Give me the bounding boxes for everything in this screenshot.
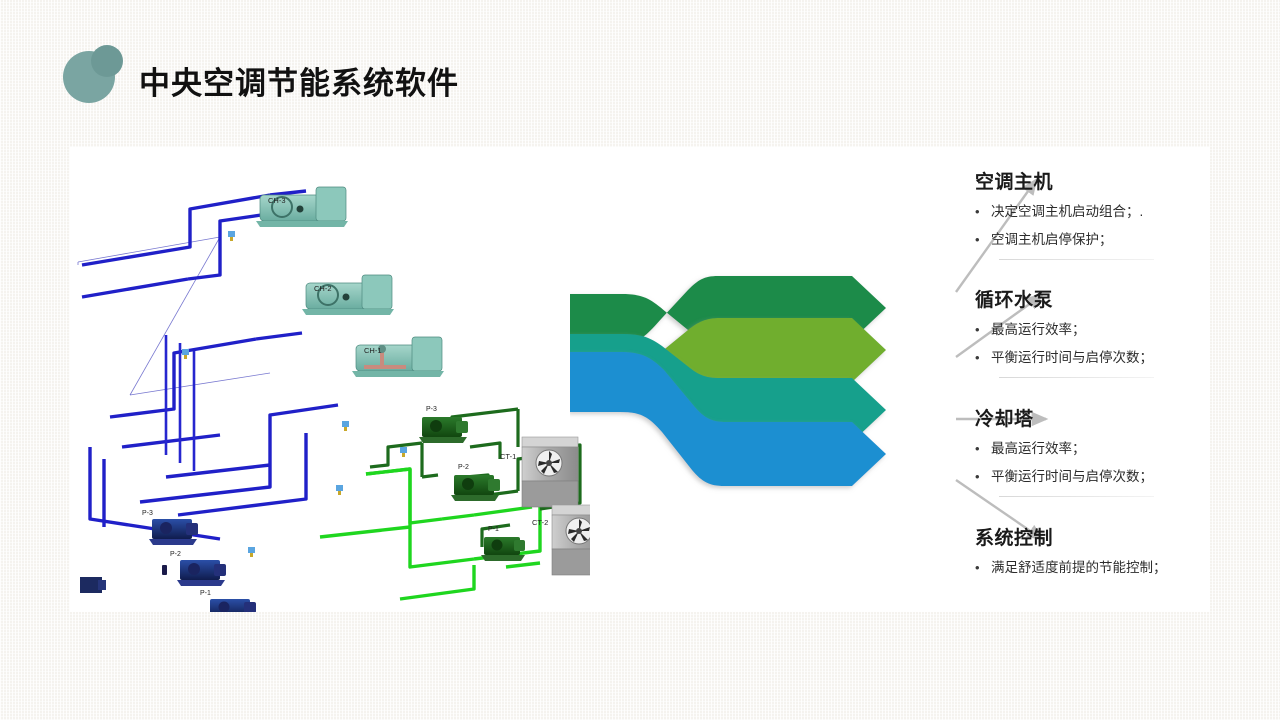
section-heading: 空调主机 [975,167,1215,194]
section-cooling-tower: 冷却塔 • 最高运行效率； • 平衡运行时间与启停次数； [975,404,1215,497]
bullet-dot-icon: • [975,440,991,457]
section-divider [999,377,1154,378]
svg-text:CT-1: CT-1 [500,452,516,461]
bullet-text: 最高运行效率； [991,440,1086,457]
section-circulating-pump: 循环水泵 • 最高运行效率； • 平衡运行时间与启停次数； [975,285,1215,378]
section-air-conditioning-host: 空调主机 • 决定空调主机启动组合；. • 空调主机启停保护； [975,167,1215,260]
svg-text:CH-1: CH-1 [364,346,382,355]
bullet-dot-icon: • [975,349,991,366]
list-item: • 空调主机启停保护； [975,231,1215,248]
page-title: 中央空调节能系统软件 [139,58,459,103]
list-item: • 决定空调主机启动组合；. [975,203,1215,220]
bullet-dot-icon: • [975,231,991,248]
bullet-text: 最高运行效率； [991,321,1086,338]
svg-text:P-2: P-2 [458,464,469,471]
list-item: • 最高运行效率； [975,321,1215,338]
svg-text:P-1: P-1 [200,590,211,597]
bullet-text: 平衡运行时间与启停次数； [991,349,1153,366]
bullet-dot-icon: • [975,203,991,220]
section-heading: 循环水泵 [975,285,1215,312]
section-system-control: 系统控制 • 满足舒适度前提的节能控制； [975,523,1215,587]
section-heading: 冷却塔 [975,404,1215,431]
logo-circle-small-icon [91,45,123,77]
svg-text:CH-2: CH-2 [314,284,332,293]
list-item: • 满足舒适度前提的节能控制； [975,559,1215,576]
hvac-isometric-diagram: P-3 P-2 P-1 [70,147,590,612]
bullet-dot-icon: • [975,559,991,576]
ribbon-band-group [570,242,900,522]
bullet-text: 满足舒适度前提的节能控制； [991,559,1167,576]
bullet-dot-icon: • [975,321,991,338]
section-divider [999,259,1154,260]
list-item: • 平衡运行时间与启停次数； [975,468,1215,485]
section-divider [999,496,1154,497]
bullet-text: 决定空调主机启动组合；. [991,203,1143,220]
svg-text:P-3: P-3 [142,510,153,517]
svg-text:P-2: P-2 [170,551,181,558]
sections-column: 空调主机 • 决定空调主机启动组合；. • 空调主机启停保护； 循环水泵 • 最… [975,0,1215,720]
svg-text:P-3: P-3 [426,406,437,413]
bullet-text: 平衡运行时间与启停次数； [991,468,1153,485]
svg-text:CH-3: CH-3 [268,196,286,205]
section-bullets: • 决定空调主机启动组合；. • 空调主机启停保护； [975,203,1215,248]
two-circles-logo [63,45,125,107]
section-heading: 系统控制 [975,523,1215,550]
bullet-text: 空调主机启停保护； [991,231,1113,248]
list-item: • 最高运行效率； [975,440,1215,457]
section-bullets: • 最高运行效率； • 平衡运行时间与启停次数； [975,321,1215,366]
svg-text:P-1: P-1 [488,526,499,533]
bullet-dot-icon: • [975,468,991,485]
section-bullets: • 最高运行效率； • 平衡运行时间与启停次数； [975,440,1215,485]
list-item: • 平衡运行时间与启停次数； [975,349,1215,366]
svg-text:CT-2: CT-2 [532,518,548,527]
section-bullets: • 满足舒适度前提的节能控制； [975,559,1215,576]
